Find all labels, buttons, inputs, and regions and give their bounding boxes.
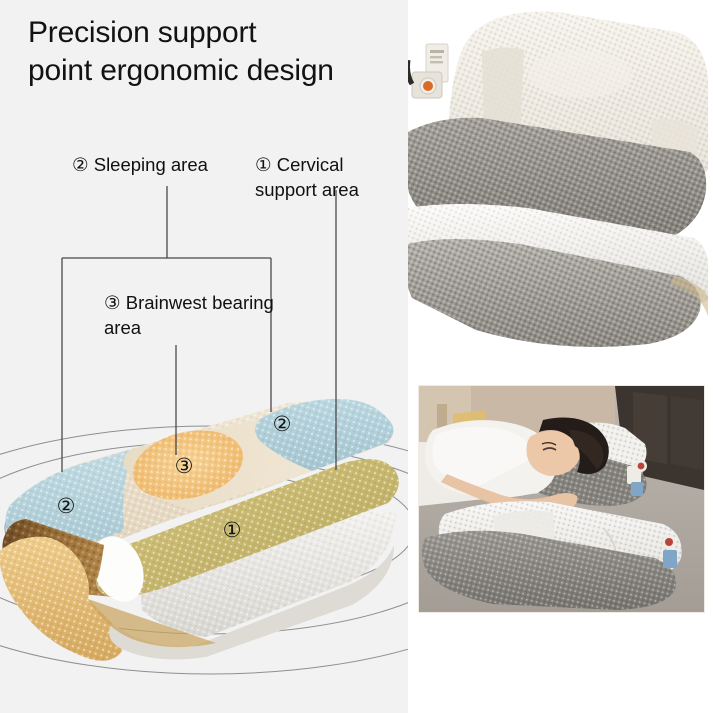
diagram-panel: ② ③ ② ① ② Sleeping area ① Cervical suppo… <box>0 0 408 713</box>
callout-sleeping-area: ② Sleeping area <box>72 152 252 177</box>
callout-brainrest-bearing-area-text: ③ Brainwest bearing area <box>104 292 274 338</box>
lifestyle-sleeping-photo <box>418 385 705 613</box>
product-infographic: ② ③ ② ① ② Sleeping area ① Cervical suppo… <box>0 0 713 713</box>
callout-cervical-support-area: ① Cervical support area <box>255 152 390 202</box>
callout-brainrest-bearing-area: ③ Brainwest bearing area <box>104 290 274 340</box>
page-title: Precision support point ergonomic design <box>28 14 408 90</box>
product-stack-photo <box>408 0 713 360</box>
callout-cervical-support-area-text: ① Cervical support area <box>255 154 359 200</box>
photo-column <box>408 0 713 713</box>
leader-lines <box>0 0 408 713</box>
callout-sleeping-area-text: ② Sleeping area <box>72 154 208 175</box>
